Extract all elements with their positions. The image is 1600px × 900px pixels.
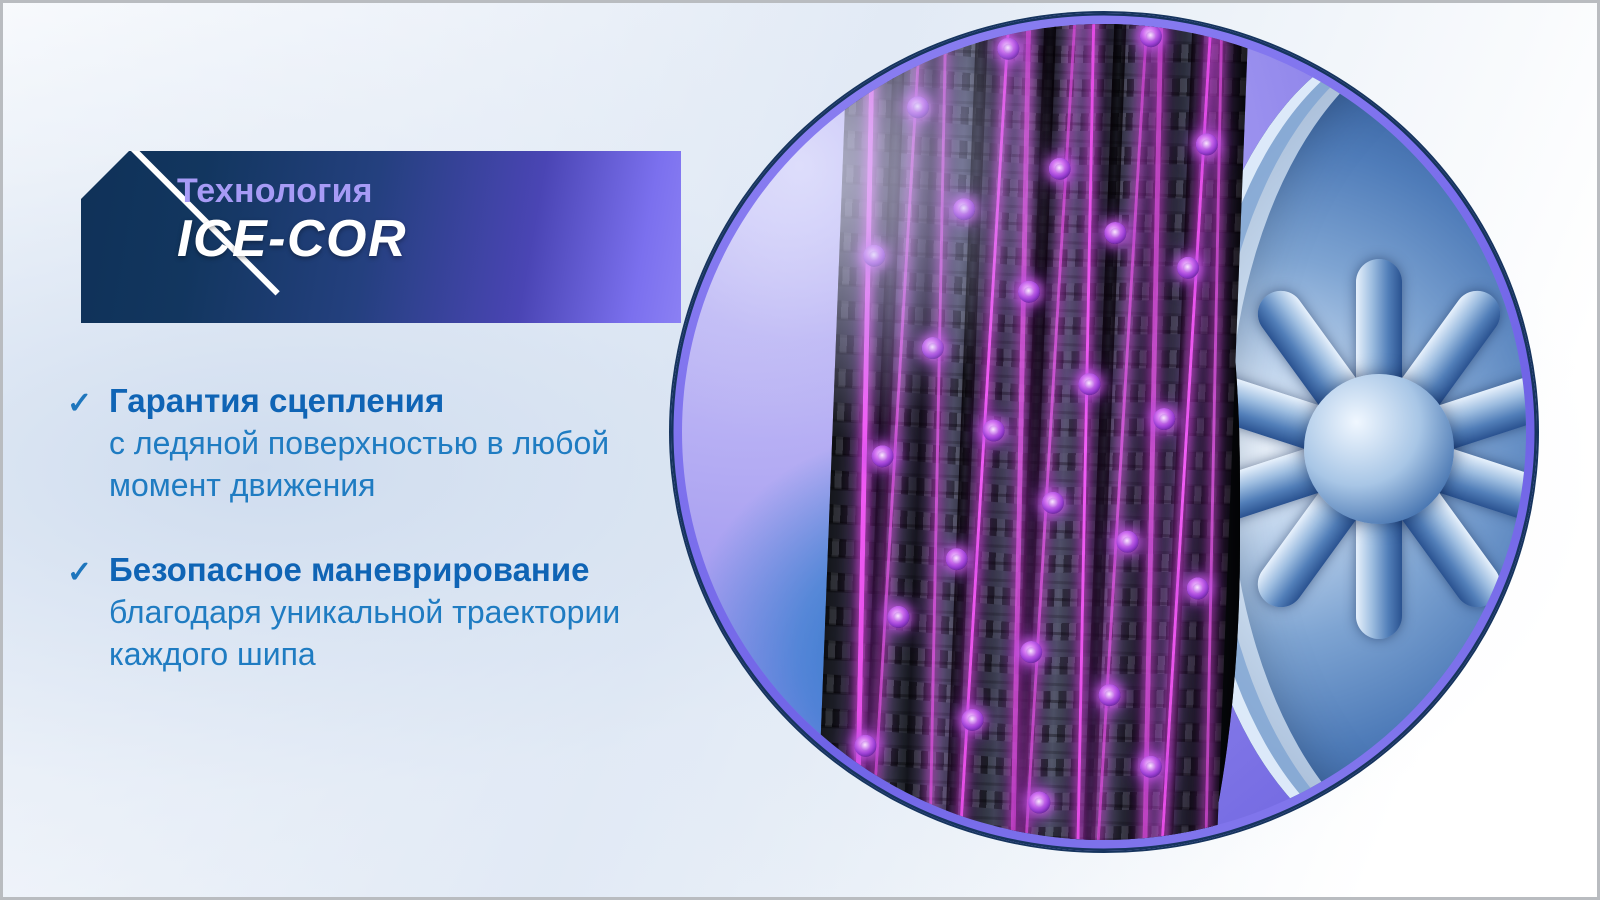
tread-sipe bbox=[840, 232, 1240, 250]
tire-stud bbox=[1041, 491, 1064, 514]
tire-stud bbox=[1078, 373, 1101, 396]
tire-stud bbox=[1048, 157, 1071, 180]
list-item: ✓ Безопасное маневрирование благодаря ун… bbox=[67, 550, 667, 675]
tread-sipe bbox=[845, 97, 1245, 115]
tire-stud bbox=[921, 337, 944, 360]
tread-sipe bbox=[844, 130, 1244, 148]
list-item: ✓ Гарантия сцепления с ледяной поверхнос… bbox=[67, 381, 667, 506]
feature-heading: Безопасное маневрирование bbox=[109, 550, 667, 591]
tire-tread bbox=[813, 24, 1251, 840]
feature-body: с ледяной поверхностью в любой момент дв… bbox=[109, 423, 667, 506]
tire-stud bbox=[1104, 222, 1127, 245]
tread-chevron bbox=[813, 125, 1251, 175]
check-icon: ✓ bbox=[67, 550, 109, 588]
tire-stud bbox=[982, 419, 1005, 442]
tread-sipe bbox=[841, 198, 1241, 216]
feature-list: ✓ Гарантия сцепления с ледяной поверхнос… bbox=[67, 381, 667, 719]
tire-circle-graphic: Cordiant OUTSIDE bbox=[671, 13, 1537, 851]
tire-stud bbox=[863, 244, 886, 267]
tread-chevron bbox=[813, 91, 1251, 141]
tire-stud bbox=[1018, 280, 1041, 303]
tire-stud bbox=[907, 96, 930, 119]
circle-inner-fill: Cordiant OUTSIDE bbox=[682, 24, 1526, 840]
tread-sipe bbox=[831, 470, 1231, 488]
tread-chevron bbox=[813, 24, 1251, 73]
tire-stud bbox=[997, 37, 1020, 60]
feature-heading: Гарантия сцепления bbox=[109, 381, 667, 422]
tread-chevron bbox=[813, 57, 1251, 107]
tread-sipe bbox=[832, 436, 1232, 454]
check-icon: ✓ bbox=[67, 381, 109, 419]
tread-sipe bbox=[843, 164, 1243, 182]
tread-sipe bbox=[837, 300, 1237, 318]
technology-banner: Технология ICE-COR bbox=[81, 151, 681, 323]
tire-body bbox=[813, 24, 1411, 840]
tread-sipe bbox=[848, 24, 1248, 30]
tread-sipe bbox=[848, 29, 1248, 47]
promo-slide: Cordiant OUTSIDE Технология ICE-COR ✓ Га… bbox=[0, 0, 1600, 900]
tread-sipe bbox=[847, 63, 1247, 81]
technology-label: Технология bbox=[177, 173, 407, 210]
banner-text-group: Технология ICE-COR bbox=[177, 173, 407, 267]
tire-stud bbox=[953, 198, 976, 221]
tread-sipe bbox=[830, 504, 1230, 522]
feature-text-group: Гарантия сцепления с ледяной поверхность… bbox=[109, 381, 667, 506]
technology-name: ICE-COR bbox=[177, 212, 407, 267]
tread-sipe bbox=[835, 368, 1235, 386]
feature-text-group: Безопасное маневрирование благодаря уник… bbox=[109, 550, 667, 675]
tire-stud bbox=[876, 24, 899, 25]
feature-body: благодаря уникальной траектории каждого … bbox=[109, 592, 667, 675]
tire-stud bbox=[871, 445, 894, 468]
tread-sipe bbox=[836, 334, 1236, 352]
